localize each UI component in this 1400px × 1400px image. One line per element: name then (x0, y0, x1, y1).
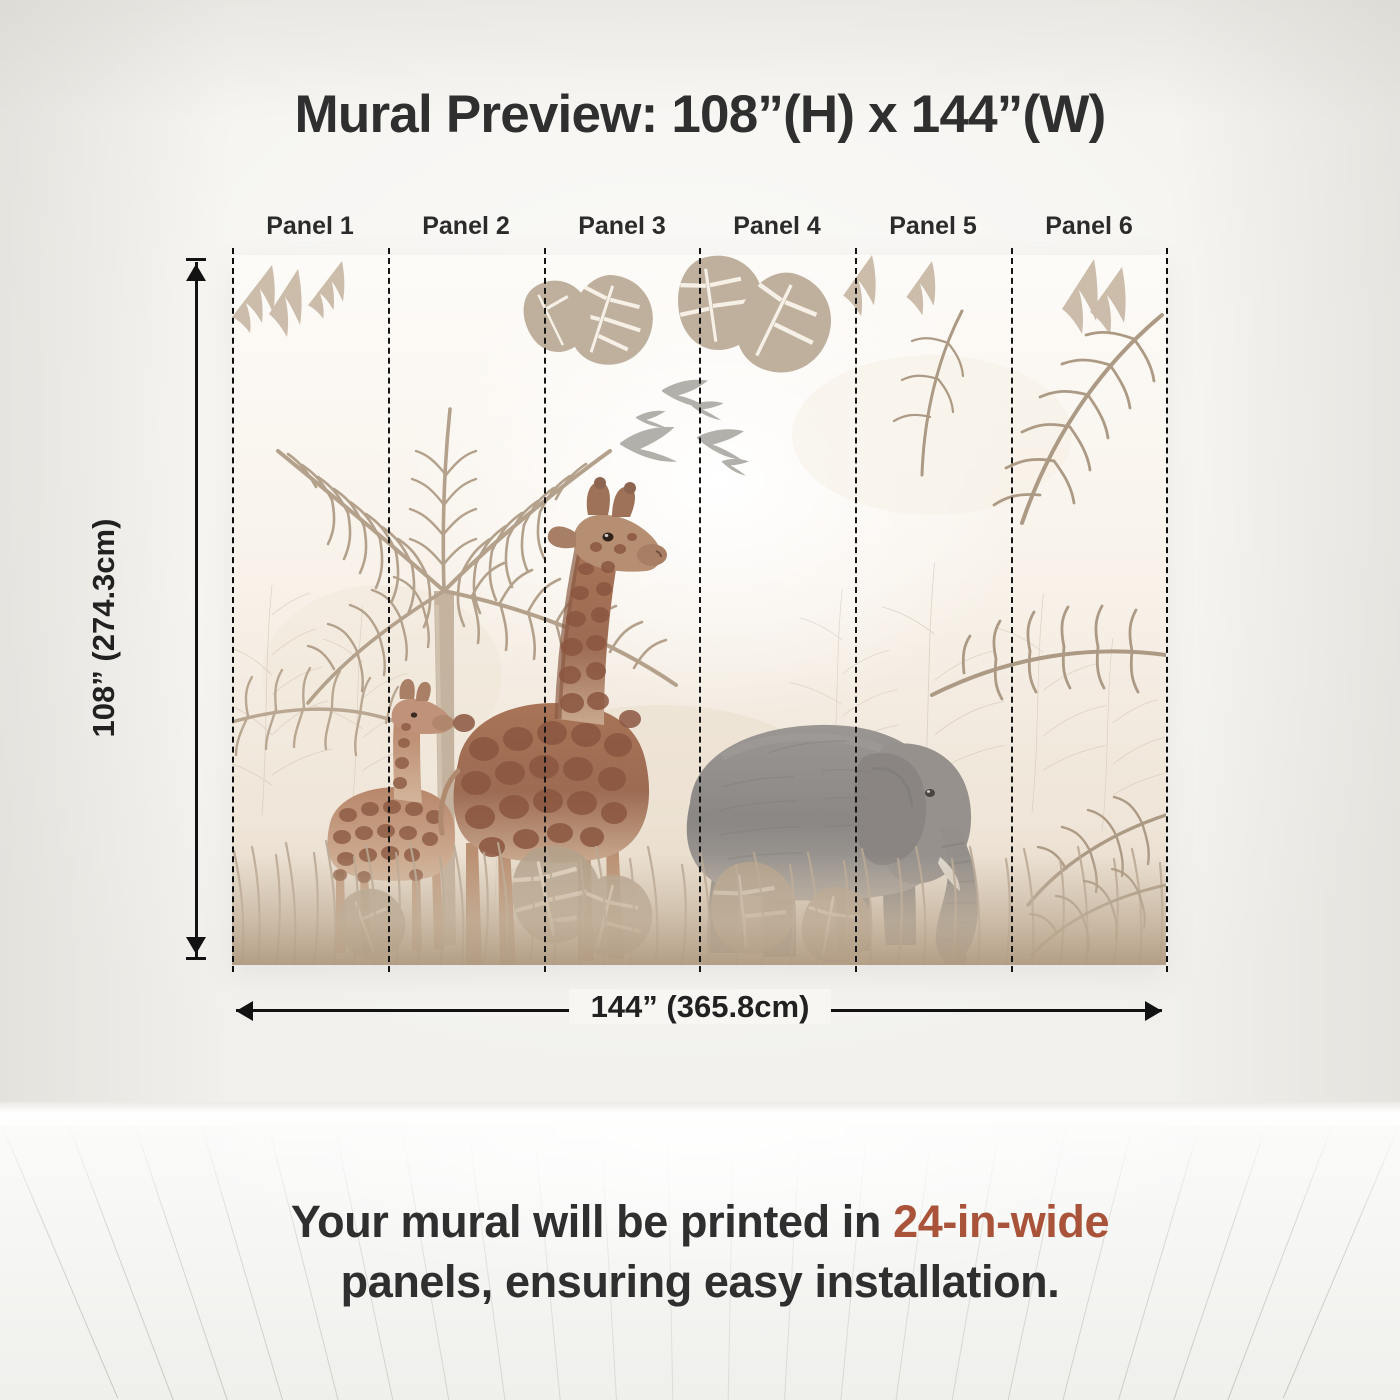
panel-divider-1 (388, 248, 390, 972)
width-dimension-label: 144” (365.8cm) (0, 989, 1400, 1025)
caption-block: Your mural will be printed in 24-in-wide… (0, 1192, 1400, 1312)
panel-label-2: Panel 2 (388, 212, 544, 241)
caption-line-1: Your mural will be printed in 24-in-wide (0, 1192, 1400, 1252)
mural-preview-screen: Mural Preview: 108”(H) x 144”(W) (0, 0, 1400, 1400)
caption-accent-text: 24-in-wide (893, 1196, 1109, 1247)
height-tick-top (186, 258, 206, 261)
width-dimension-text: 144” (365.8cm) (569, 989, 832, 1024)
panel-divider-5 (1011, 248, 1013, 972)
panel-divider-4 (855, 248, 857, 972)
height-dimension-label: 108” (274.3cm) (86, 418, 122, 838)
height-arrowhead-up (186, 264, 206, 281)
panel-label-4: Panel 4 (699, 212, 855, 241)
height-tick-bottom (186, 957, 206, 960)
wall-right-shading (1170, 0, 1400, 1120)
panel-label-6: Panel 6 (1011, 212, 1167, 241)
caption-line-2: panels, ensuring easy installation. (0, 1252, 1400, 1312)
panel-label-1: Panel 1 (232, 212, 388, 241)
panel-divider-right-edge (1166, 248, 1168, 972)
panel-divider-left-edge (232, 248, 234, 972)
panel-label-3: Panel 3 (544, 212, 700, 241)
panel-divider-2 (544, 248, 546, 972)
panel-label-5: Panel 5 (855, 212, 1011, 241)
panel-divider-3 (699, 248, 701, 972)
caption-text-before: Your mural will be printed in (291, 1196, 893, 1247)
height-dimension-line (195, 262, 198, 958)
page-title: Mural Preview: 108”(H) x 144”(W) (0, 84, 1400, 145)
baseboard (0, 1102, 1400, 1128)
height-arrowhead-down (186, 937, 206, 954)
